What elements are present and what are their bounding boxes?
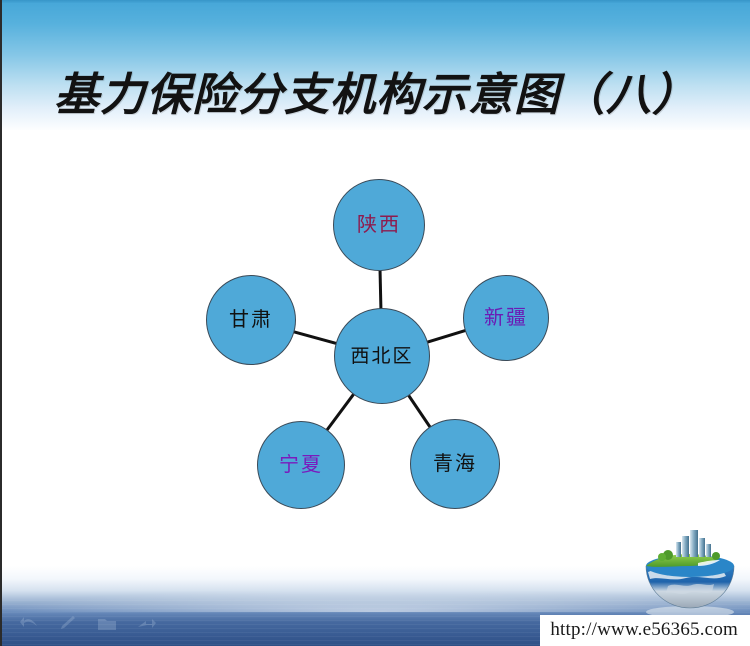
diagram-node-label: 甘肃 xyxy=(229,310,273,330)
diagram-node-label: 青海 xyxy=(433,454,477,474)
diagram-edge-甘肃 xyxy=(292,331,337,343)
diagram-node-宁夏[interactable]: 宁夏 xyxy=(257,421,345,509)
eco-city-globe-logo xyxy=(638,524,742,620)
diagram-node-label: 新疆 xyxy=(484,308,528,328)
diagram-node-新疆[interactable]: 新疆 xyxy=(463,275,549,361)
diagram-edge-陕西 xyxy=(380,269,381,310)
diagram-node-label: 西北区 xyxy=(350,347,413,366)
diagram-node-陕西[interactable]: 陕西 xyxy=(333,179,425,271)
diagram-edge-青海 xyxy=(408,394,431,428)
diagram-node-label: 宁夏 xyxy=(279,455,323,475)
diagram-edge-宁夏 xyxy=(326,393,355,431)
diagram-node-西北区[interactable]: 西北区 xyxy=(334,308,430,404)
slide-canvas: 基力保险分支机构示意图（八） 西北区陕西新疆甘肃宁夏青海 xyxy=(0,0,750,646)
diagram-node-甘肃[interactable]: 甘肃 xyxy=(206,275,296,365)
diagram-edge-新疆 xyxy=(426,330,467,343)
site-url[interactable]: http://www.e56365.com xyxy=(540,615,750,646)
diagram-node-label: 陕西 xyxy=(357,215,401,235)
diagram-node-青海[interactable]: 青海 xyxy=(410,419,500,509)
